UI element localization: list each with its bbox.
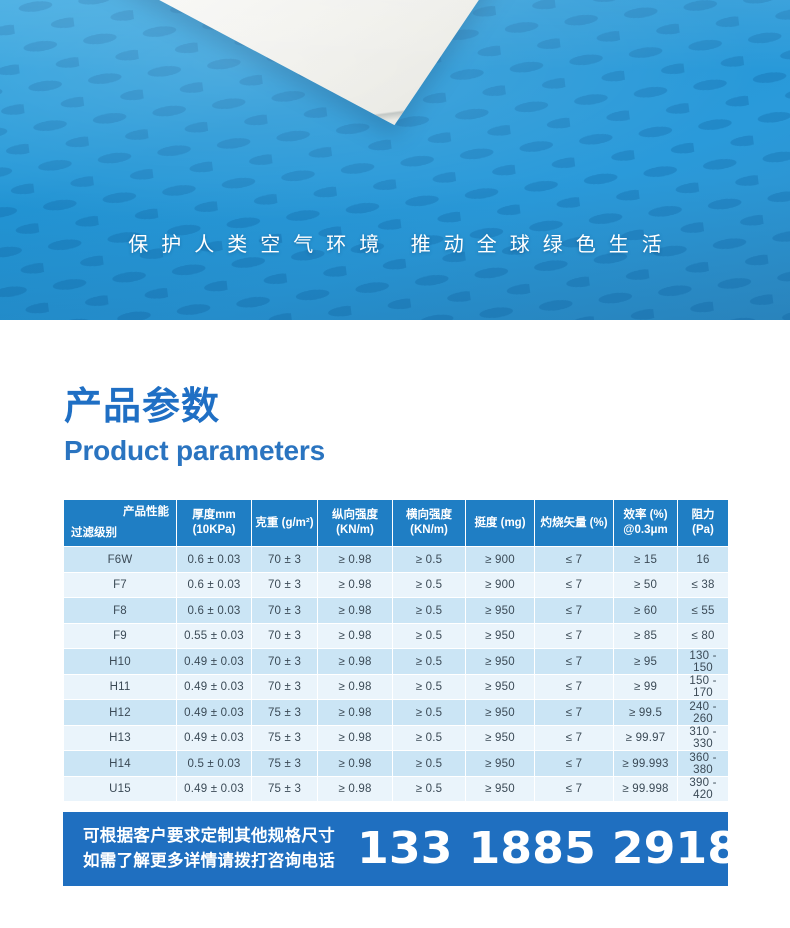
cell-stiffness: ≥ 950 <box>466 649 535 675</box>
spec-table-body: F6W0.6 ± 0.0370 ± 3≥ 0.98≥ 0.5≥ 900≤ 7≥ … <box>64 547 729 802</box>
cell-resistance: 360 - 380 <box>678 751 729 777</box>
cell-weight: 70 ± 3 <box>252 649 318 675</box>
table-row: F80.6 ± 0.0370 ± 3≥ 0.98≥ 0.5≥ 950≤ 7≥ 6… <box>64 598 729 624</box>
cell-cd-strength: ≥ 0.5 <box>393 598 466 624</box>
cell-stiffness: ≥ 950 <box>466 700 535 726</box>
header-line-2: (10KPa) <box>179 523 249 539</box>
hero-banner: 保护人类空气环境 推动全球绿色生活 <box>0 0 790 320</box>
cell-grade: F6W <box>64 547 177 573</box>
cell-cd-strength: ≥ 0.5 <box>393 649 466 675</box>
cta-phone-number[interactable]: 133 1885 2918 <box>357 827 739 871</box>
table-row: H110.49 ± 0.0370 ± 3≥ 0.98≥ 0.5≥ 950≤ 7≥… <box>64 674 729 700</box>
header-line-1: 横向强度 <box>395 508 463 524</box>
cell-grade: F8 <box>64 598 177 624</box>
header-line-1: 效率 (%) <box>616 508 675 524</box>
cell-resistance: 240 - 260 <box>678 700 729 726</box>
cell-cd-strength: ≥ 0.5 <box>393 776 466 802</box>
header-cell-cd-strength: 横向强度 (KN/m) <box>393 500 466 547</box>
cell-grade: U15 <box>64 776 177 802</box>
header-cell-efficiency: 效率 (%) @0.3μm <box>614 500 678 547</box>
cell-cd-strength: ≥ 0.5 <box>393 751 466 777</box>
cell-stiffness: ≥ 950 <box>466 674 535 700</box>
cell-cd-strength: ≥ 0.5 <box>393 700 466 726</box>
cell-md-strength: ≥ 0.98 <box>318 751 393 777</box>
cell-thickness: 0.6 ± 0.03 <box>177 572 252 598</box>
cell-efficiency: ≥ 99.5 <box>614 700 678 726</box>
header-line-1: 厚度mm <box>179 508 249 524</box>
cell-weight: 75 ± 3 <box>252 776 318 802</box>
cell-resistance: 150 - 170 <box>678 674 729 700</box>
cell-resistance: 130 - 150 <box>678 649 729 675</box>
cell-burn-loss: ≤ 7 <box>535 700 614 726</box>
table-row: U150.49 ± 0.0375 ± 3≥ 0.98≥ 0.5≥ 950≤ 7≥… <box>64 776 729 802</box>
cell-burn-loss: ≤ 7 <box>535 623 614 649</box>
cell-efficiency: ≥ 99 <box>614 674 678 700</box>
cell-cd-strength: ≥ 0.5 <box>393 725 466 751</box>
corner-label-property: 产品性能 <box>123 505 169 521</box>
cell-thickness: 0.6 ± 0.03 <box>177 598 252 624</box>
page-title-cn: 产品参数 <box>64 388 790 428</box>
cell-grade: H11 <box>64 674 177 700</box>
cell-cd-strength: ≥ 0.5 <box>393 623 466 649</box>
table-row: H120.49 ± 0.0375 ± 3≥ 0.98≥ 0.5≥ 950≤ 7≥… <box>64 700 729 726</box>
header-line-2: @0.3μm <box>616 523 675 539</box>
cell-md-strength: ≥ 0.98 <box>318 572 393 598</box>
table-row: F70.6 ± 0.0370 ± 3≥ 0.98≥ 0.5≥ 900≤ 7≥ 5… <box>64 572 729 598</box>
cell-burn-loss: ≤ 7 <box>535 674 614 700</box>
cell-thickness: 0.49 ± 0.03 <box>177 725 252 751</box>
header-line-1: 阻力 (Pa) <box>680 508 726 539</box>
cell-md-strength: ≥ 0.98 <box>318 623 393 649</box>
cell-md-strength: ≥ 0.98 <box>318 598 393 624</box>
cta-banner: 可根据客户要求定制其他规格尺寸 如需了解更多详情请拨打咨询电话 133 1885… <box>63 812 728 886</box>
cell-resistance: 16 <box>678 547 729 573</box>
corner-label-grade: 过滤级别 <box>71 526 117 542</box>
cell-resistance: ≤ 38 <box>678 572 729 598</box>
cell-grade: H10 <box>64 649 177 675</box>
cell-weight: 70 ± 3 <box>252 598 318 624</box>
cell-stiffness: ≥ 950 <box>466 725 535 751</box>
header-cell-resistance: 阻力 (Pa) <box>678 500 729 547</box>
cell-thickness: 0.49 ± 0.03 <box>177 674 252 700</box>
cell-burn-loss: ≤ 7 <box>535 572 614 598</box>
header-cell-md-strength: 纵向强度 (KN/m) <box>318 500 393 547</box>
header-line-2: (KN/m) <box>320 523 390 539</box>
cell-stiffness: ≥ 900 <box>466 572 535 598</box>
header-line-2: (KN/m) <box>395 523 463 539</box>
cell-md-strength: ≥ 0.98 <box>318 700 393 726</box>
hero-slogan: 保护人类空气环境 推动全球绿色生活 <box>0 228 790 257</box>
cell-weight: 70 ± 3 <box>252 674 318 700</box>
cell-cd-strength: ≥ 0.5 <box>393 674 466 700</box>
cell-thickness: 0.55 ± 0.03 <box>177 623 252 649</box>
cell-grade: H13 <box>64 725 177 751</box>
cell-efficiency: ≥ 99.998 <box>614 776 678 802</box>
cell-cd-strength: ≥ 0.5 <box>393 547 466 573</box>
cta-text-block: 可根据客户要求定制其他规格尺寸 如需了解更多详情请拨打咨询电话 <box>83 824 335 874</box>
cell-resistance: 310 - 330 <box>678 725 729 751</box>
header-line-1: 纵向强度 <box>320 508 390 524</box>
spec-table: 产品性能 过滤级别 厚度mm (10KPa) 克重 (g/m²) 纵向强度 (K… <box>63 499 729 802</box>
header-cell-thickness: 厚度mm (10KPa) <box>177 500 252 547</box>
cell-cd-strength: ≥ 0.5 <box>393 572 466 598</box>
table-row: F6W0.6 ± 0.0370 ± 3≥ 0.98≥ 0.5≥ 900≤ 7≥ … <box>64 547 729 573</box>
cell-grade: H12 <box>64 700 177 726</box>
cell-efficiency: ≥ 99.993 <box>614 751 678 777</box>
cell-weight: 75 ± 3 <box>252 751 318 777</box>
cell-md-strength: ≥ 0.98 <box>318 674 393 700</box>
cell-weight: 75 ± 3 <box>252 700 318 726</box>
cell-thickness: 0.49 ± 0.03 <box>177 700 252 726</box>
header-cell-burn-loss: 灼烧矢量 (%) <box>535 500 614 547</box>
section-title-block: 产品参数 Product parameters <box>0 320 790 467</box>
cell-stiffness: ≥ 950 <box>466 776 535 802</box>
spec-table-head: 产品性能 过滤级别 厚度mm (10KPa) 克重 (g/m²) 纵向强度 (K… <box>64 500 729 547</box>
cell-grade: F7 <box>64 572 177 598</box>
cta-line-2: 如需了解更多详情请拨打咨询电话 <box>83 849 335 874</box>
cell-weight: 75 ± 3 <box>252 725 318 751</box>
cell-md-strength: ≥ 0.98 <box>318 776 393 802</box>
cell-thickness: 0.49 ± 0.03 <box>177 649 252 675</box>
header-line-1: 克重 (g/m²) <box>254 516 315 532</box>
spec-table-wrapper: 产品性能 过滤级别 厚度mm (10KPa) 克重 (g/m²) 纵向强度 (K… <box>63 499 728 802</box>
table-row: H140.5 ± 0.0375 ± 3≥ 0.98≥ 0.5≥ 950≤ 7≥ … <box>64 751 729 777</box>
cell-grade: F9 <box>64 623 177 649</box>
cell-weight: 70 ± 3 <box>252 547 318 573</box>
cell-burn-loss: ≤ 7 <box>535 547 614 573</box>
cell-burn-loss: ≤ 7 <box>535 598 614 624</box>
table-row: H130.49 ± 0.0375 ± 3≥ 0.98≥ 0.5≥ 950≤ 7≥… <box>64 725 729 751</box>
header-cell-stiffness: 挺度 (mg) <box>466 500 535 547</box>
cell-md-strength: ≥ 0.98 <box>318 725 393 751</box>
cell-thickness: 0.49 ± 0.03 <box>177 776 252 802</box>
cell-stiffness: ≥ 900 <box>466 547 535 573</box>
header-line-1: 灼烧矢量 (%) <box>537 516 611 532</box>
cell-efficiency: ≥ 85 <box>614 623 678 649</box>
cell-efficiency: ≥ 95 <box>614 649 678 675</box>
cell-thickness: 0.5 ± 0.03 <box>177 751 252 777</box>
cell-resistance: 390 - 420 <box>678 776 729 802</box>
table-row: H100.49 ± 0.0370 ± 3≥ 0.98≥ 0.5≥ 950≤ 7≥… <box>64 649 729 675</box>
cell-efficiency: ≥ 15 <box>614 547 678 573</box>
cell-stiffness: ≥ 950 <box>466 623 535 649</box>
cell-md-strength: ≥ 0.98 <box>318 649 393 675</box>
cell-efficiency: ≥ 50 <box>614 572 678 598</box>
header-cell-weight: 克重 (g/m²) <box>252 500 318 547</box>
table-row: F90.55 ± 0.0370 ± 3≥ 0.98≥ 0.5≥ 950≤ 7≥ … <box>64 623 729 649</box>
cell-burn-loss: ≤ 7 <box>535 649 614 675</box>
header-cell-corner: 产品性能 过滤级别 <box>64 500 177 547</box>
cell-weight: 70 ± 3 <box>252 623 318 649</box>
cta-line-1: 可根据客户要求定制其他规格尺寸 <box>83 824 335 849</box>
cell-resistance: ≤ 55 <box>678 598 729 624</box>
hero-overlay <box>0 0 790 320</box>
page-title-en: Product parameters <box>64 434 790 468</box>
header-line-1: 挺度 (mg) <box>468 516 532 532</box>
cell-weight: 70 ± 3 <box>252 572 318 598</box>
cell-efficiency: ≥ 60 <box>614 598 678 624</box>
cell-stiffness: ≥ 950 <box>466 598 535 624</box>
cell-md-strength: ≥ 0.98 <box>318 547 393 573</box>
cell-grade: H14 <box>64 751 177 777</box>
cell-burn-loss: ≤ 7 <box>535 725 614 751</box>
cell-burn-loss: ≤ 7 <box>535 751 614 777</box>
cell-resistance: ≤ 80 <box>678 623 729 649</box>
spec-table-header-row: 产品性能 过滤级别 厚度mm (10KPa) 克重 (g/m²) 纵向强度 (K… <box>64 500 729 547</box>
cell-burn-loss: ≤ 7 <box>535 776 614 802</box>
cell-stiffness: ≥ 950 <box>466 751 535 777</box>
cell-thickness: 0.6 ± 0.03 <box>177 547 252 573</box>
cell-efficiency: ≥ 99.97 <box>614 725 678 751</box>
